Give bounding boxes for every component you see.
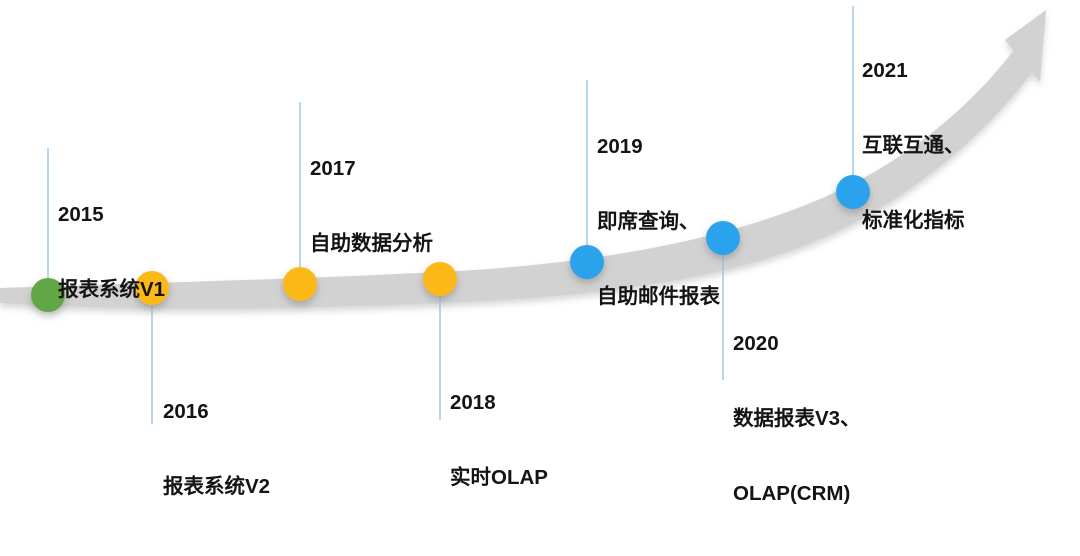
milestone-desc-2020-line-0: 数据报表V3、 xyxy=(733,406,861,431)
milestone-year-2015: 2015 xyxy=(58,202,165,227)
milestone-year-2017: 2017 xyxy=(310,156,433,181)
milestone-label-2015: 2015 报表系统V1 xyxy=(58,152,165,352)
milestone-desc-2016-line-0: 报表系统V2 xyxy=(163,474,270,499)
milestone-year-2021: 2021 xyxy=(862,58,965,83)
timeline-diagram: 2015 报表系统V1 2016 报表系统V2 2017 自助数据分析 2018… xyxy=(0,0,1080,430)
milestone-desc-2018-line-0: 实时OLAP xyxy=(450,465,548,490)
milestone-desc-2015-line-0: 报表系统V1 xyxy=(58,277,165,302)
milestone-desc-2017-line-0: 自助数据分析 xyxy=(310,231,433,256)
milestone-desc-2020-line-1: OLAP(CRM) xyxy=(733,481,861,506)
milestone-label-2017: 2017 自助数据分析 xyxy=(310,106,433,306)
milestone-year-2020: 2020 xyxy=(733,331,861,356)
milestone-desc-2021-line-1: 标准化指标 xyxy=(862,208,965,233)
milestone-label-2021: 2021 互联互通、 标准化指标 xyxy=(862,8,965,283)
milestone-year-2018: 2018 xyxy=(450,390,548,415)
milestone-label-2019: 2019 即席查询、 自助邮件报表 xyxy=(597,84,720,359)
milestone-year-2019: 2019 xyxy=(597,134,720,159)
milestone-desc-2021-line-0: 互联互通、 xyxy=(862,133,965,158)
milestone-year-2016: 2016 xyxy=(163,399,270,424)
milestone-label-2020: 2020 数据报表V3、 OLAP(CRM) xyxy=(733,281,861,556)
milestone-label-2018: 2018 实时OLAP xyxy=(450,340,548,540)
milestone-desc-2019-line-0: 即席查询、 xyxy=(597,209,720,234)
milestone-desc-2019-line-1: 自助邮件报表 xyxy=(597,284,720,309)
milestone-label-2016: 2016 报表系统V2 xyxy=(163,349,270,549)
